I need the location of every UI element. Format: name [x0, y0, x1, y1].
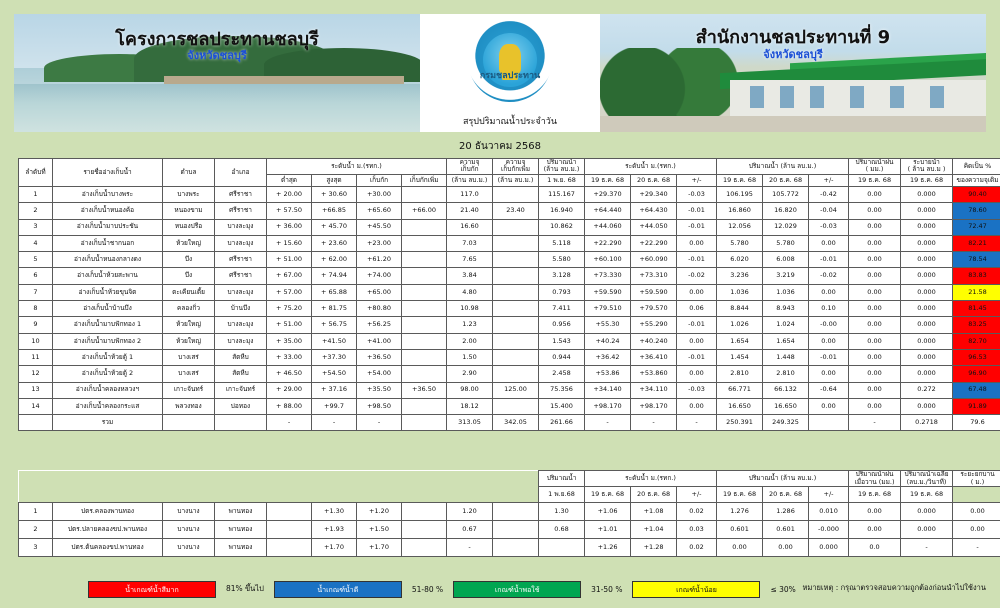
gate-th-volume-group: ปริมาณน้ำ (ล้าน ลบ.ม.)	[717, 471, 849, 487]
cell-volume-nov: 0.944	[539, 349, 585, 365]
cell-volume-d1: 1.036	[717, 284, 763, 300]
cell-reservoir-name: อ่างเก็บน้ำหนองกลางดง	[53, 252, 163, 268]
cell-level-store-extra	[402, 252, 447, 268]
cell-sum-pct-old: 79.6	[953, 415, 1000, 431]
cell-tambon: บางนาง	[163, 503, 215, 521]
cell-level-store: +98.50	[357, 398, 402, 414]
cell-capacity-extra	[493, 186, 539, 202]
cell-drain: 0.000	[901, 398, 953, 414]
legend-range-high: 81% ขึ้นไป	[216, 583, 274, 595]
cell-no: 4	[19, 235, 53, 251]
cell-volume-diff: -0.04	[809, 203, 849, 219]
gate-th-vol-diff: +/-	[809, 487, 849, 503]
cell-level-max: +54.50	[312, 366, 357, 382]
cell-drain: 0.000	[901, 301, 953, 317]
cell-lift: 0.00	[953, 503, 1000, 521]
th-lvl-d2: 20 ธ.ค. 68	[631, 174, 677, 186]
cell-rain: 0.00	[849, 503, 901, 521]
cell-tambon: ห้วยใหญ่	[163, 235, 215, 251]
cell-level-store-extra	[402, 284, 447, 300]
th-capacity: ความจุ เก็บกัก	[447, 159, 493, 175]
cell-volume-d2: 6.008	[763, 252, 809, 268]
cell-volume-d1: 106.195	[717, 186, 763, 202]
cell-level-d2: +44.050	[631, 219, 677, 235]
cell-pct-old: 78.54	[953, 252, 1000, 268]
building-window	[890, 86, 904, 108]
cell-sum-tambon	[163, 415, 215, 431]
cell-no: 1	[19, 186, 53, 202]
cell-level-store: +41.00	[357, 333, 402, 349]
cell-capacity-extra	[493, 539, 539, 557]
cell-level-store-extra	[402, 366, 447, 382]
cell-level-diff: -0.02	[677, 268, 717, 284]
cell-tambon: พลวงทอง	[163, 398, 215, 414]
cell-level-store-extra	[402, 317, 447, 333]
cell-level-d2: +34.110	[631, 382, 677, 398]
legend-swatch-good: น้ำเกณฑ์น้ำดี	[274, 581, 402, 598]
th-min: ต่ำสุด	[267, 174, 312, 186]
cell-level-min: + 57.00	[267, 284, 312, 300]
cell-sum-min: -	[267, 415, 312, 431]
cell-tambon: บางนาง	[163, 539, 215, 557]
cell-capacity-extra: 23.40	[493, 203, 539, 219]
cell-volume-d1: 1.276	[717, 503, 763, 521]
cell-no: 10	[19, 333, 53, 349]
cell-reservoir-name: อ่างเก็บน้ำคลองหลวงฯ	[53, 382, 163, 398]
cell-level-d1: +40.24	[585, 333, 631, 349]
cell-no: 7	[19, 284, 53, 300]
cell-reservoir-name: อ่างเก็บน้ำมาบฟักทอง 2	[53, 333, 163, 349]
cell-level-d2: +73.310	[631, 268, 677, 284]
cell-level-diff: 0.00	[677, 366, 717, 382]
th-amphoe: อำเภอ	[215, 159, 267, 187]
table-row: 6อ่างเก็บน้ำห้วยสะพานบึงศรีราชา+ 67.00+ …	[19, 268, 1000, 284]
th-max: สูงสุด	[312, 174, 357, 186]
cell-no: 2	[19, 521, 53, 539]
cell-pct-old: 72.47	[953, 219, 1000, 235]
th-vol-date: 1 พ.ย. 68	[539, 174, 585, 186]
cell-no: 2	[19, 203, 53, 219]
cell-capacity: 16.60	[447, 219, 493, 235]
cell-drain: 0.000	[901, 349, 953, 365]
banner-left-photo: โครงการชลประทานชลบุรี จังหวัดชลบุรี	[14, 14, 420, 132]
cell-capacity: 1.20	[447, 503, 493, 521]
cell-tambon: บางพระ	[163, 186, 215, 202]
cell-volume-d2: 1.036	[763, 284, 809, 300]
legend-swatch-fair: เกณฑ์น้ำพอใช้	[453, 581, 581, 598]
cell-level-d1: +1.01	[585, 521, 631, 539]
table-row: 10อ่างเก็บน้ำมาบฟักทอง 2ห้วยใหญ่บางละมุง…	[19, 333, 1000, 349]
cell-level-min	[267, 539, 312, 557]
table-row: 9อ่างเก็บน้ำมาบฟักทอง 1ห้วยใหญ่บางละมุง+…	[19, 317, 1000, 333]
royal-irrigation-seal-icon	[468, 18, 552, 102]
cell-level-diff: 0.02	[677, 539, 717, 557]
cell-level-max: + 65.88	[312, 284, 357, 300]
cell-level-store: +54.00	[357, 366, 402, 382]
cell-capacity: 18.12	[447, 398, 493, 414]
cell-volume-diff: -0.01	[809, 252, 849, 268]
table-row: 3ปตร.ต้นคลองขป.พานทองบางนางพานทอง+1.70+1…	[19, 539, 1000, 557]
cell-reservoir-name: อ่างเก็บน้ำชากนอก	[53, 235, 163, 251]
table-row: 3อ่างเก็บน้ำมาบประชันหนองปรือบางละมุง+ 3…	[19, 219, 1000, 235]
cell-tambon: คลองกิ่ว	[163, 301, 215, 317]
th-volume-group: ปริมาณน้ำ (ล้าน ลบ.ม.)	[717, 159, 849, 175]
gate-th-vol-d2: 20 ธ.ค. 68	[763, 487, 809, 503]
cell-level-d1: +1.26	[585, 539, 631, 557]
cell-rain: 0.00	[849, 398, 901, 414]
cell-volume-nov: 10.862	[539, 219, 585, 235]
gate-th-blank1	[953, 487, 1000, 503]
cell-level-max: +1.70	[312, 539, 357, 557]
cell-volume-d2: 1.024	[763, 317, 809, 333]
cell-capacity: 21.40	[447, 203, 493, 219]
table-row: 14อ่างเก็บน้ำคลองกระแสพลวงทองบ่อทอง+ 88.…	[19, 398, 1000, 414]
cell-tambon: บางเสร่	[163, 349, 215, 365]
th-lvl-d1: 19 ธ.ค. 68	[585, 174, 631, 186]
th-level-group: ระดับน้ำ ม.(รทก.)	[585, 159, 717, 175]
cell-level-diff: -0.03	[677, 186, 717, 202]
cell-volume-d2: 105.772	[763, 186, 809, 202]
cell-level-d1: +22.290	[585, 235, 631, 251]
cell-level-diff: 0.02	[677, 503, 717, 521]
cell-rain: 0.00	[849, 521, 901, 539]
cell-level-store-extra	[402, 521, 447, 539]
cell-level-store-extra: +36.50	[402, 382, 447, 398]
cell-volume-d2: 12.029	[763, 219, 809, 235]
cell-level-min: + 35.00	[267, 333, 312, 349]
cell-level-d1: +79.510	[585, 301, 631, 317]
cell-volume-d1: 3.236	[717, 268, 763, 284]
cell-level-max: +1.30	[312, 503, 357, 521]
legend-range-low: ≤ 30%	[760, 585, 805, 594]
cell-pct-old: 82.21	[953, 235, 1000, 251]
cell-sum-amphoe	[215, 415, 267, 431]
cell-reservoir-name: อ่างเก็บน้ำคลองกระแส	[53, 398, 163, 414]
th-lvl-diff: +/-	[677, 174, 717, 186]
cell-level-diff: -0.01	[677, 252, 717, 268]
cell-level-store-extra	[402, 219, 447, 235]
footer-note: หมายเหตุ : กรุณาตรวจสอบความถูกต้องก่อนนำ…	[802, 582, 986, 594]
cell-level-min: + 57.50	[267, 203, 312, 219]
table-row: 1ปตร.คลองพานทองบางนางพานทอง+1.30+1.201.2…	[19, 503, 1000, 521]
table-row: 8อ่างเก็บน้ำบ้านบึงคลองกิ่วบ้านบึง+ 75.2…	[19, 301, 1000, 317]
gate-th-lvl-d1: 19 ธ.ค. 68	[585, 487, 631, 503]
cell-no: 3	[19, 219, 53, 235]
cell-sum-capacity-extra: 342.05	[493, 415, 539, 431]
cell-capacity-extra	[493, 235, 539, 251]
cell-level-store-extra	[402, 539, 447, 557]
cell-tambon: เกาะจันทร์	[163, 382, 215, 398]
cell-tambon: หนองขาม	[163, 203, 215, 219]
cell-no: 3	[19, 539, 53, 557]
cell-capacity: 0.67	[447, 521, 493, 539]
cell-drain: 0.000	[901, 203, 953, 219]
cell-level-max: +1.93	[312, 521, 357, 539]
lake-water	[14, 84, 420, 132]
cell-level-diff: 0.00	[677, 398, 717, 414]
cell-amphoe: บางละมุง	[215, 219, 267, 235]
cell-volume-d1: 16.860	[717, 203, 763, 219]
cell-tambon: หนองปรือ	[163, 219, 215, 235]
cell-level-store: +30.00	[357, 186, 402, 202]
cell-level-max: +99.7	[312, 398, 357, 414]
cell-level-store: +80.80	[357, 301, 402, 317]
cell-capacity-extra	[493, 252, 539, 268]
cell-level-min	[267, 503, 312, 521]
cell-sum-drain: 0.2718	[901, 415, 953, 431]
cell-level-min: + 75.20	[267, 301, 312, 317]
th-vol-d2: 20 ธ.ค. 68	[763, 174, 809, 186]
building-window	[810, 86, 824, 108]
cell-pct-old: 83.83	[953, 268, 1000, 284]
cell-sum-volume-d2: 249.325	[763, 415, 809, 431]
cell-level-d1: +34.140	[585, 382, 631, 398]
cell-volume-d1: 66.771	[717, 382, 763, 398]
cell-level-store: +1.50	[357, 521, 402, 539]
cell-capacity: 1.50	[447, 349, 493, 365]
cell-volume-nov: 1.30	[539, 503, 585, 521]
cell-tambon: ห้วยใหญ่	[163, 333, 215, 349]
gate-th-avg-flow: ปริมาณน้ำเฉลี่ย (ลบ.ม./วินาที)	[901, 471, 953, 487]
cell-amphoe: ศรีราชา	[215, 203, 267, 219]
cell-level-min: + 20.00	[267, 186, 312, 202]
cell-no: 1	[19, 503, 53, 521]
gate-th-rain-date: 19 ธ.ค. 68	[849, 487, 901, 503]
cell-no: 9	[19, 317, 53, 333]
cell-volume-d1: 16.650	[717, 398, 763, 414]
cell-capacity: 7.03	[447, 235, 493, 251]
cell-volume-d1: 1.026	[717, 317, 763, 333]
cell-drain: 0.000	[901, 235, 953, 251]
cell-volume-d2: 1.448	[763, 349, 809, 365]
cell-volume-nov: 0.956	[539, 317, 585, 333]
table-row: 5อ่างเก็บน้ำหนองกลางดงบึงศรีราชา+ 51.00+…	[19, 252, 1000, 268]
page-banner: โครงการชลประทานชลบุรี จังหวัดชลบุรี กรมช…	[14, 14, 986, 132]
cell-volume-nov: 115.167	[539, 186, 585, 202]
cell-sum-level-diff: -	[677, 415, 717, 431]
cell-level-min: + 51.00	[267, 317, 312, 333]
cell-level-store: +56.25	[357, 317, 402, 333]
cell-level-min: + 36.00	[267, 219, 312, 235]
cell-volume-nov: 1.543	[539, 333, 585, 349]
cell-level-d1: +36.42	[585, 349, 631, 365]
cell-volume-diff: 0.00	[809, 333, 849, 349]
seal-arc-label: กรมชลประทาน	[468, 68, 552, 82]
cell-capacity: 3.84	[447, 268, 493, 284]
cell-sum-label: รวม	[53, 415, 163, 431]
cell-level-max: + 23.60	[312, 235, 357, 251]
legend-swatch-low: เกณฑ์น้ำน้อย	[632, 581, 760, 598]
th-vol-d1: 19 ธ.ค. 68	[717, 174, 763, 186]
cell-level-store-extra	[402, 268, 447, 284]
building-window	[850, 86, 864, 108]
th-store: เก็บกัก	[357, 174, 402, 186]
cell-volume-d1: 6.020	[717, 252, 763, 268]
cell-level-d2: +1.28	[631, 539, 677, 557]
cell-reservoir-name: อ่างเก็บน้ำบางพระ	[53, 186, 163, 202]
cell-level-max: + 30.60	[312, 186, 357, 202]
reservoir-table: ลำดับที่ รายชื่ออ่างเก็บน้ำ ตำบล อำเภอ ร…	[18, 158, 1000, 431]
cell-amphoe: บางละมุง	[215, 235, 267, 251]
cell-volume-diff: -0.64	[809, 382, 849, 398]
cell-volume-nov: 16.940	[539, 203, 585, 219]
legend-range-good: 51-80 %	[402, 585, 453, 594]
cell-pct-old: 83.25	[953, 317, 1000, 333]
cell-volume-diff: 0.00	[809, 398, 849, 414]
cell-level-d2: +1.08	[631, 503, 677, 521]
cell-amphoe: พานทอง	[215, 503, 267, 521]
cell-volume-diff: -0.03	[809, 219, 849, 235]
cell-level-min: + 88.00	[267, 398, 312, 414]
cell-volume-nov: 0.68	[539, 521, 585, 539]
cell-volume-nov: 75.356	[539, 382, 585, 398]
cell-capacity: 10.98	[447, 301, 493, 317]
cell-no: 12	[19, 366, 53, 382]
cell-volume-diff: 0.00	[809, 235, 849, 251]
cell-no: 11	[19, 349, 53, 365]
cell-level-store-extra	[402, 349, 447, 365]
cell-level-d2: +22.290	[631, 235, 677, 251]
cell-level-d2: +1.04	[631, 521, 677, 539]
cell-level-d2: +98.170	[631, 398, 677, 414]
cell-capacity: 117.0	[447, 186, 493, 202]
cell-volume-nov: 5.580	[539, 252, 585, 268]
th-volume: ปริมาณน้ำ (ล้าน ลบ.ม.)	[539, 159, 585, 175]
building-window	[780, 86, 794, 108]
table-row: 4อ่างเก็บน้ำชากนอกห้วยใหญ่บางละมุง+ 15.6…	[19, 235, 1000, 251]
gate-th-lvl-diff: +/-	[677, 487, 717, 503]
th-tambon: ตำบล	[163, 159, 215, 187]
cell-capacity: 4.80	[447, 284, 493, 300]
cell-rain: 0.00	[849, 186, 901, 202]
cell-level-d1: +29.370	[585, 186, 631, 202]
cell-sum-rain: -	[849, 415, 901, 431]
cell-sum-volume-diff	[809, 415, 849, 431]
table-row: 2อ่างเก็บน้ำหนองค้อหนองขามศรีราชา+ 57.50…	[19, 203, 1000, 219]
cell-level-store-extra	[402, 186, 447, 202]
banner-right-subtitle: จังหวัดชลบุรี	[600, 45, 986, 63]
cell-pct-old: 81.45	[953, 301, 1000, 317]
cell-level-d2: +36.410	[631, 349, 677, 365]
cell-pct-old: 96.90	[953, 366, 1000, 382]
cell-level-max: + 37.16	[312, 382, 357, 398]
th-drain: ระบายน้ำ ( ล้าน ลบ.ม )	[901, 159, 953, 175]
cell-level-d2: +59.590	[631, 284, 677, 300]
cell-amphoe: พานทอง	[215, 539, 267, 557]
cell-sum-level-d1: -	[585, 415, 631, 431]
legend-swatch-high: น้ำเกณฑ์น้ำสีมาก	[88, 581, 216, 598]
cell-level-diff: 0.03	[677, 521, 717, 539]
cell-level-store: +61.20	[357, 252, 402, 268]
cell-level-max: + 81.75	[312, 301, 357, 317]
building-window	[750, 86, 764, 108]
cell-volume-nov: 0.793	[539, 284, 585, 300]
cell-level-d1: +53.86	[585, 366, 631, 382]
cell-level-max: + 74.94	[312, 268, 357, 284]
cell-volume-diff: -0.42	[809, 186, 849, 202]
cell-avg-flow: 0.000	[901, 521, 953, 539]
cell-capacity-extra	[493, 398, 539, 414]
table-row: 12อ่างเก็บน้ำห้วยตู้ 2บางเสร่สัตหีบ+ 46.…	[19, 366, 1000, 382]
cell-no: 13	[19, 382, 53, 398]
cell-level-d2: +55.290	[631, 317, 677, 333]
gate-th-lvl-d2: 20 ธ.ค. 68	[631, 487, 677, 503]
summary-row: รวม---313.05342.05261.66---250.391249.32…	[19, 415, 1000, 431]
cell-sum-volume-d1: 250.391	[717, 415, 763, 431]
cell-level-store-extra	[402, 398, 447, 414]
cell-tambon: บางเสร่	[163, 366, 215, 382]
cell-reservoir-name: อ่างเก็บน้ำห้วยสะพาน	[53, 268, 163, 284]
th-vol-diff: +/-	[809, 174, 849, 186]
cell-level-diff: -0.01	[677, 317, 717, 333]
cell-volume-d2: 1.286	[763, 503, 809, 521]
cell-capacity: 98.00	[447, 382, 493, 398]
cell-amphoe: บางละมุง	[215, 317, 267, 333]
cell-volume-nov: 7.411	[539, 301, 585, 317]
cell-drain: 0.000	[901, 333, 953, 349]
cell-volume-nov: 3.128	[539, 268, 585, 284]
cell-rain: 0.00	[849, 349, 901, 365]
cell-drain: 0.000	[901, 268, 953, 284]
cell-amphoe: บ้านบึง	[215, 301, 267, 317]
cell-amphoe: บางละมุง	[215, 284, 267, 300]
cell-level-d1: +60.100	[585, 252, 631, 268]
cell-tambon: บึง	[163, 268, 215, 284]
gate-table: ปริมาณน้ำ ระดับน้ำ ม.(รทก.) ปริมาณน้ำ (ล…	[18, 470, 1000, 557]
cell-level-store: +35.50	[357, 382, 402, 398]
cell-level-min: + 51.00	[267, 252, 312, 268]
cell-level-max: +41.50	[312, 333, 357, 349]
cell-gate-name: ปตร.ปลายคลองขป.พานทอง	[53, 521, 163, 539]
cell-sum-store-extra	[402, 415, 447, 431]
cell-volume-d1: 5.780	[717, 235, 763, 251]
cell-level-d1: +55.30	[585, 317, 631, 333]
th-capacity-extra: ความจุ เก็บกักเพิ่ม	[493, 159, 539, 175]
cell-level-diff: 0.00	[677, 333, 717, 349]
cell-level-min: + 67.00	[267, 268, 312, 284]
cell-volume-diff: -0.00	[809, 317, 849, 333]
cell-tambon: บางนาง	[163, 521, 215, 539]
cell-level-store-extra	[402, 333, 447, 349]
banner-caption: สรุปปริมาณน้ำประจำวัน	[420, 114, 600, 128]
cell-level-max: + 62.00	[312, 252, 357, 268]
table-row: 13อ่างเก็บน้ำคลองหลวงฯเกาะจันทร์เกาะจันท…	[19, 382, 1000, 398]
cell-pct-old: 21.58	[953, 284, 1000, 300]
cell-volume-d2: 2.810	[763, 366, 809, 382]
cell-rain: 0.00	[849, 268, 901, 284]
cell-level-min: + 46.50	[267, 366, 312, 382]
cell-level-store-extra	[402, 301, 447, 317]
cell-level-min: + 29.00	[267, 382, 312, 398]
cell-level-diff: -0.01	[677, 203, 717, 219]
cell-volume-d1: 12.056	[717, 219, 763, 235]
legend-range-fair: 31-50 %	[581, 585, 632, 594]
cell-level-max: +66.85	[312, 203, 357, 219]
report-date: 20 ธันวาคม 2568	[14, 138, 986, 156]
cell-volume-d2: 3.219	[763, 268, 809, 284]
cell-level-diff: -0.01	[677, 349, 717, 365]
th-rain: ปริมาณน้ำฝน ( มม.)	[849, 159, 901, 175]
gate-th-level-group: ระดับน้ำ ม.(รทก.)	[585, 471, 717, 487]
cell-level-store-extra: +66.00	[402, 203, 447, 219]
cell-amphoe: สัตหีบ	[215, 366, 267, 382]
cell-volume-d1: 2.810	[717, 366, 763, 382]
cell-rain: 0.00	[849, 333, 901, 349]
cell-level-d2: +79.570	[631, 301, 677, 317]
cell-capacity-extra	[493, 521, 539, 539]
cell-volume-d2: 0.601	[763, 521, 809, 539]
cell-volume-diff: 0.010	[809, 503, 849, 521]
